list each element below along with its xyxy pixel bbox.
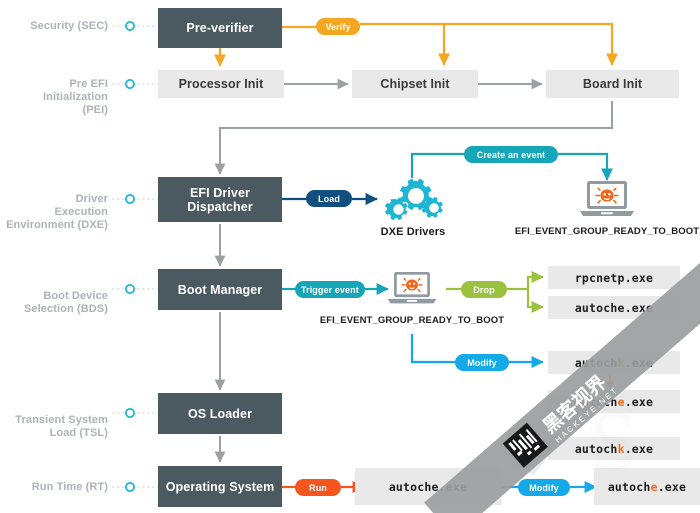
node-efi-driver-dispatcher[interactable]: EFI Driver Dispatcher — [158, 177, 282, 222]
dxe-drivers-caption-text: DXE Drivers — [381, 226, 446, 238]
pill-run[interactable]: Run — [295, 479, 341, 496]
file-chip-rpcnetp[interactable]: rpcnetp.exe — [548, 266, 680, 289]
pill-trigger-event[interactable]: Trigger event — [295, 281, 365, 298]
phase-label-pei: Pre EFI Initialization (PEI) — [0, 65, 108, 117]
node-efi-driver-dispatcher-label: EFI Driver Dispatcher — [187, 186, 253, 214]
node-processor-init[interactable]: Processor Init — [158, 70, 284, 98]
laptop-malware-icon-bds — [386, 269, 438, 309]
file-chip-autoche-modified-highlight: e — [618, 395, 625, 409]
node-pre-verifier[interactable]: Pre-verifier — [158, 8, 282, 48]
node-boot-manager-label: Boot Manager — [178, 283, 263, 297]
phase-label-rt-text: Run Time (RT) — [32, 481, 108, 493]
file-chip-autoche-run-label: autoche.exe — [389, 480, 467, 494]
pill-trigger-event-label: Trigger event — [301, 285, 359, 295]
file-chip-autoche-drop-label: autoche.exe — [575, 301, 653, 315]
pill-modify-bds[interactable]: Modify — [455, 354, 509, 371]
file-chip-autoche-run[interactable]: autoche.exe — [355, 468, 501, 505]
phase-label-pei-text: Pre EFI Initialization (PEI) — [43, 78, 108, 116]
phase-label-dxe-text: Driver Execution Environment (DXE) — [6, 193, 108, 231]
event-bds-caption: EFI_EVENT_GROUP_READY_TO_BOOT — [305, 315, 519, 326]
pill-modify-rt[interactable]: Modify — [518, 479, 570, 496]
pill-drop[interactable]: Drop — [461, 281, 507, 298]
phase-label-sec-text: Security (SEC) — [30, 20, 108, 32]
file-chip-autoche-rt-suffix: .exe — [658, 480, 687, 494]
laptop-malware-icon-dxe — [578, 178, 636, 222]
uefi-boot-flow-diagram: Security (SEC) Pre EFI Initialization (P… — [0, 0, 700, 513]
node-os-loader[interactable]: OS Loader — [158, 393, 282, 434]
phase-label-tsl: Transient System Load (TSL) — [0, 401, 108, 440]
node-processor-init-label: Processor Init — [179, 77, 264, 91]
node-operating-system[interactable]: Operating System — [158, 466, 282, 507]
file-chip-autoche-modified[interactable]: autoche.exe — [548, 390, 680, 413]
pill-load[interactable]: Load — [306, 190, 352, 207]
file-chip-autoche-modified-prefix: autoch — [575, 395, 618, 409]
file-chip-autoche-rt[interactable]: autoche.exe — [594, 468, 700, 505]
node-chipset-init[interactable]: Chipset Init — [352, 70, 478, 98]
file-chip-autochk-rt-suffix: .exe — [625, 442, 654, 456]
file-chip-autochk-rt-prefix: autoch — [575, 442, 618, 456]
node-board-init-label: Board Init — [583, 77, 642, 91]
file-chip-autochk-modified[interactable]: autochk.exe — [548, 351, 680, 374]
file-chip-rpcnetp-label: rpcnetp.exe — [575, 271, 653, 285]
gears-icon — [378, 172, 448, 228]
pill-modify-bds-label: Modify — [467, 358, 497, 368]
file-chip-autochk-rt-highlight: k — [618, 442, 625, 456]
phase-label-tsl-text: Transient System Load (TSL) — [15, 414, 108, 439]
pill-verify[interactable]: Verify — [316, 18, 360, 35]
phase-label-dxe: Driver Execution Environment (DXE) — [0, 180, 108, 232]
node-operating-system-label: Operating System — [166, 480, 275, 494]
file-chip-autoche-modified-suffix: .exe — [625, 395, 654, 409]
pill-load-label: Load — [318, 194, 340, 204]
pill-modify-rt-label: Modify — [529, 483, 559, 493]
file-chip-autoche-rt-prefix: autoch — [608, 480, 651, 494]
phase-label-bds: Boot Device Selection (BDS) — [0, 277, 108, 316]
file-chip-autoche-rt-highlight: e — [651, 480, 658, 494]
node-boot-manager[interactable]: Boot Manager — [158, 269, 282, 310]
node-os-loader-label: OS Loader — [188, 407, 252, 421]
file-chip-autoche-drop[interactable]: autoche.exe — [548, 296, 680, 319]
file-chip-autochk-modified-suffix: .exe — [625, 356, 654, 370]
phase-label-bds-text: Boot Device Selection (BDS) — [24, 290, 108, 315]
pill-verify-label: Verify — [325, 22, 350, 32]
file-chip-autochk-modified-highlight: k — [618, 356, 625, 370]
node-pre-verifier-label: Pre-verifier — [186, 21, 253, 35]
pill-create-an-event-label: Create an event — [477, 150, 546, 160]
pill-run-label: Run — [309, 483, 327, 493]
pill-create-an-event[interactable]: Create an event — [464, 146, 558, 163]
event-bds-caption-text: EFI_EVENT_GROUP_READY_TO_BOOT — [320, 315, 504, 326]
node-chipset-init-label: Chipset Init — [380, 77, 449, 91]
file-chip-autochk-modified-prefix: autoch — [575, 356, 618, 370]
node-board-init[interactable]: Board Init — [546, 70, 679, 98]
event-dxe-caption-text: EFI_EVENT_GROUP_READY_TO_BOOT — [515, 226, 699, 237]
dxe-drivers-caption: DXE Drivers — [352, 226, 474, 238]
file-chip-autochk-rt[interactable]: autochk.exe — [548, 437, 680, 460]
phase-label-sec: Security (SEC) — [0, 20, 108, 33]
event-dxe-caption: EFI_EVENT_GROUP_READY_TO_BOOT — [500, 226, 700, 237]
phase-label-rt: Run Time (RT) — [0, 481, 108, 494]
pill-drop-label: Drop — [473, 285, 494, 295]
